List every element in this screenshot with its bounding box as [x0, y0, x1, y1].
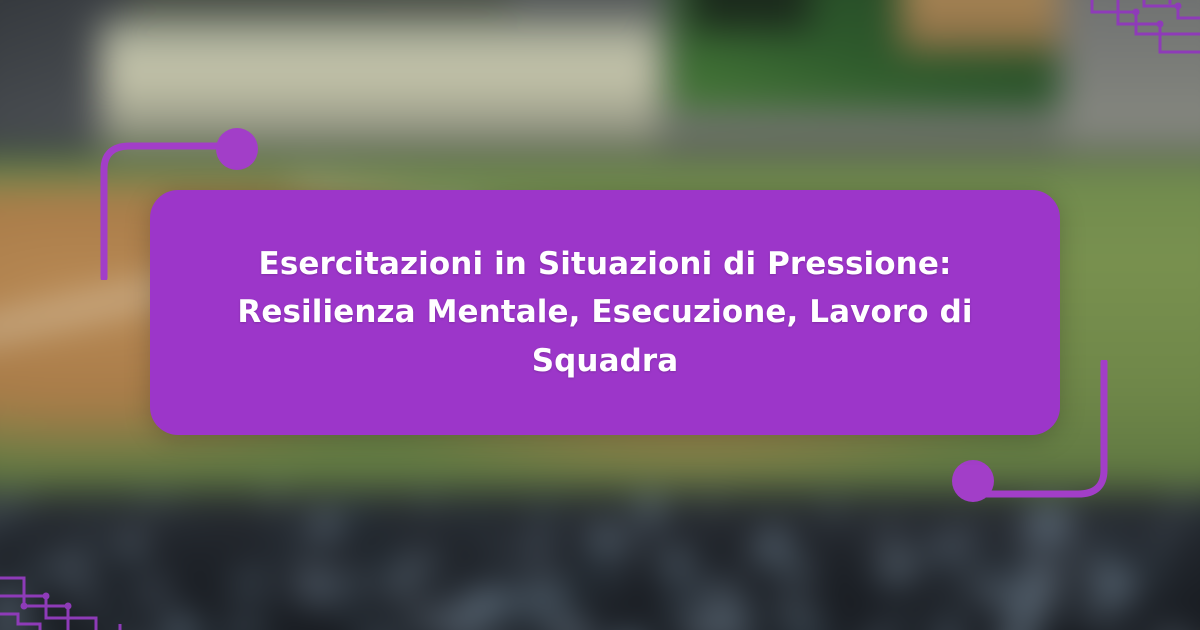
social-card: Esercitazioni in Situazioni di Pressione…	[0, 0, 1200, 630]
circuit-decoration-top-right	[1040, 0, 1200, 70]
background-scoreboard	[690, 0, 810, 30]
accent-dot-top-left	[216, 128, 258, 170]
page-title: Esercitazioni in Situazioni di Pressione…	[216, 240, 994, 384]
circuit-decoration-bottom-left	[0, 560, 160, 630]
accent-dot-bottom-right	[952, 460, 994, 502]
title-card: Esercitazioni in Situazioni di Pressione…	[150, 190, 1060, 435]
background-crowd	[0, 490, 1200, 630]
